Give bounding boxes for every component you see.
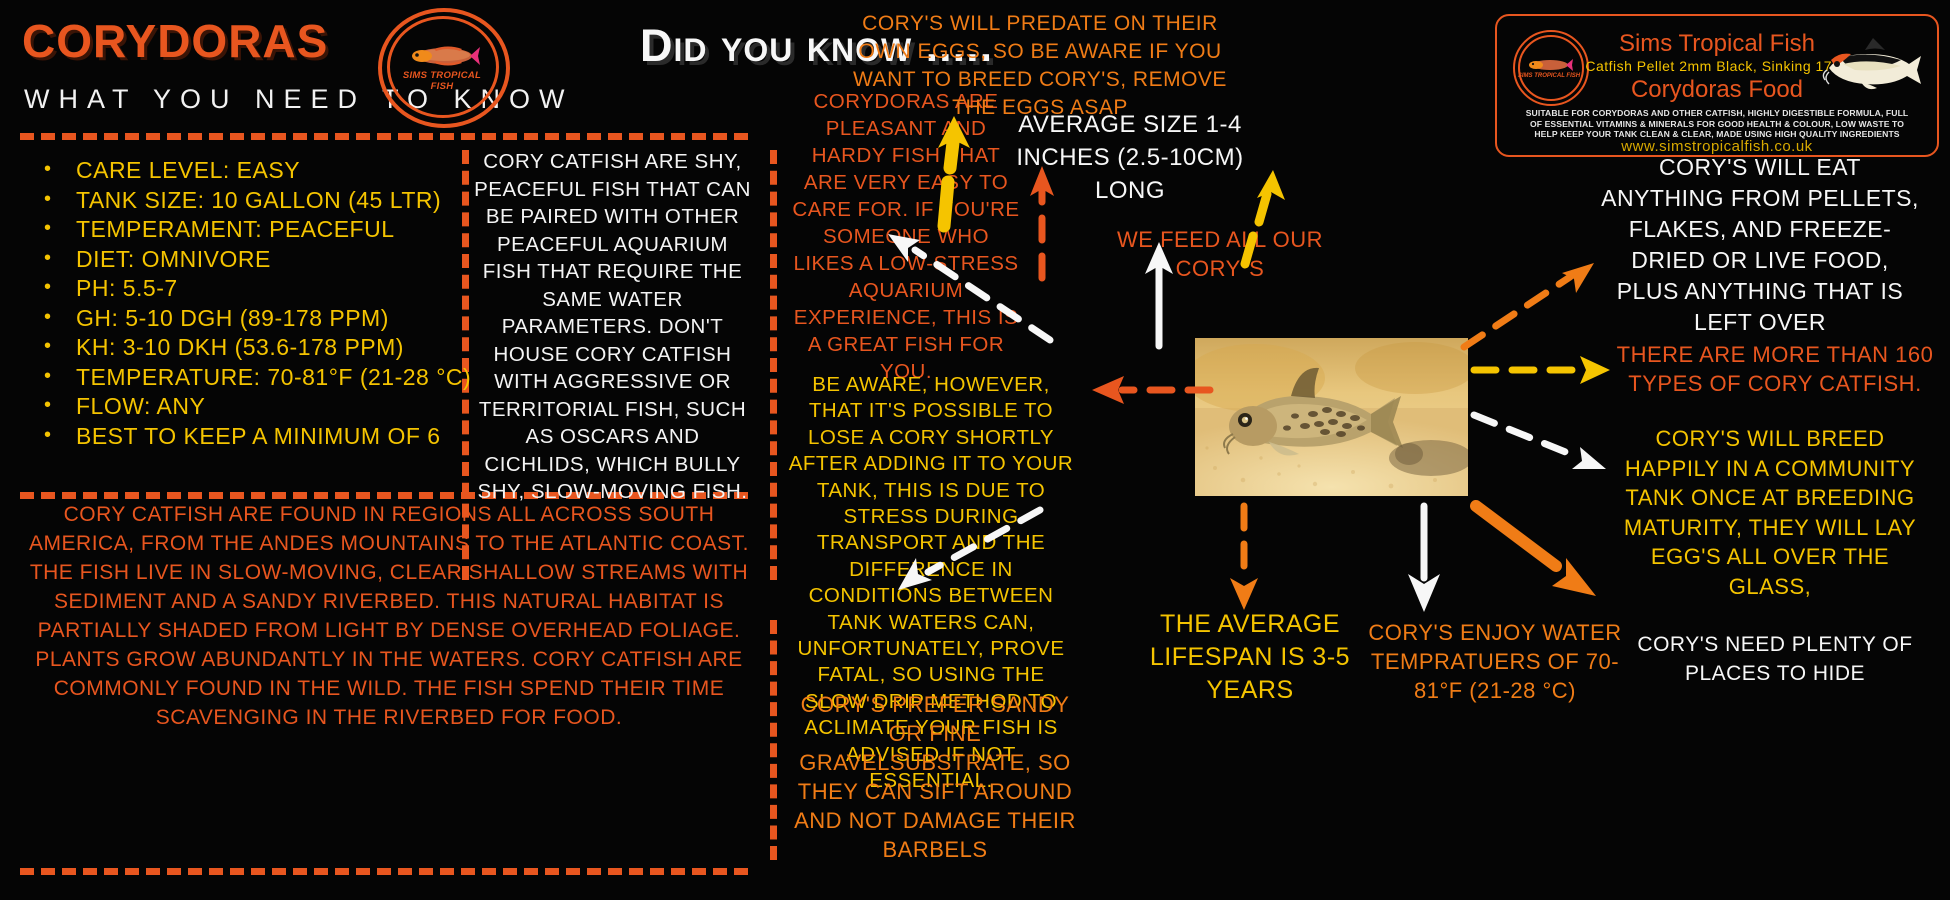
- arrow-white-down-temp: [1400, 500, 1446, 630]
- arrow-yellow-up-to-label: [1225, 140, 1295, 270]
- shy-peaceful-paragraph: CORY CATFISH ARE SHY, PEACEFUL FISH THAT…: [470, 148, 755, 506]
- places-to-hide-paragraph: CORY'S NEED PLENTY OF PLACES TO HIDE: [1620, 630, 1930, 688]
- divider-vertical-center-lower: [770, 620, 777, 860]
- divider-top: [20, 133, 748, 140]
- product-label-card: SIMS TROPICAL FISH Sims Tropical Fish Ca…: [1495, 14, 1939, 157]
- product-logo-wordmark: SIMS TROPICAL FISH: [1517, 73, 1581, 79]
- list-item: PH: 5.5-7: [30, 274, 450, 304]
- breed-happily-paragraph: CORY'S WILL BREED HAPPILY IN A COMMUNITY…: [1610, 424, 1930, 601]
- list-item: DIET: OMNIVORE: [30, 245, 450, 275]
- infographic-canvas: CORYDORAS WHAT YOU NEED TO KNOW SIMS TRO…: [0, 0, 1950, 900]
- arrow-orange-left: [1086, 360, 1216, 420]
- arrow-yellow-up-left: [918, 108, 988, 228]
- arrow-white-downleft: [870, 500, 1050, 610]
- divider-vertical-center: [770, 150, 777, 580]
- arrow-orange-downright-hide: [1470, 500, 1640, 630]
- we-feed-paragraph: WE FEED ALL OUR CORY"S: [1080, 225, 1360, 283]
- divider-bottom: [20, 868, 748, 875]
- types-count-paragraph: THERE ARE MORE THAN 160 TYPES OF CORY CA…: [1610, 340, 1940, 398]
- brand-logo: SIMS TROPICAL FISH: [378, 8, 510, 128]
- product-description: SUITABLE FOR CORYDORAS AND OTHER CATFISH…: [1525, 108, 1909, 140]
- list-item: TEMPERAMENT: PEACEFUL: [30, 215, 450, 245]
- corydoras-photo: [1195, 338, 1468, 496]
- list-item: CARE LEVEL: EASY: [30, 156, 450, 186]
- eat-anything-paragraph: CORY'S WILL EAT ANYTHING FROM PELLETS, F…: [1600, 152, 1920, 338]
- corydoras-photo-svg: [1195, 338, 1468, 496]
- product-website-url: www.simstropicalfish.co.uk: [1587, 138, 1847, 155]
- product-variant: Catfish Pellet 2mm Black, Sinking 175g: [1577, 58, 1857, 74]
- arrow-white-downright: [1470, 405, 1620, 495]
- product-brand-name: Sims Tropical Fish: [1587, 30, 1847, 58]
- list-item: KH: 3-10 DKH (53.6-178 PPM): [30, 333, 450, 363]
- arrow-white-upleft: [860, 230, 1060, 350]
- arrow-white-up-center: [1135, 230, 1181, 350]
- arowana-fish-icon: [1525, 56, 1573, 74]
- water-temperature-paragraph: CORY'S ENJOY WATER TEMPRATUERS OF 70-81°…: [1360, 618, 1630, 705]
- page-title: CORYDORAS: [22, 14, 328, 68]
- care-facts-list: CARE LEVEL: EASY TANK SIZE: 10 GALLON (4…: [30, 156, 450, 451]
- logo-wordmark: SIMS TROPICAL FISH: [394, 70, 490, 92]
- sandy-substrate-paragraph: CORY'S PREFER SANDY OR FINE GRAVELSUBSTR…: [790, 690, 1080, 864]
- arrow-orange-down-lifespan: [1220, 500, 1266, 630]
- list-item: GH: 5-10 DGH (89-178 PPM): [30, 304, 450, 334]
- list-item: FLOW: ANY: [30, 392, 450, 422]
- list-item: BEST TO KEEP A MINIMUM OF 6: [30, 422, 450, 452]
- habitat-paragraph: CORY CATFISH ARE FOUND IN REGIONS ALL AC…: [14, 500, 764, 732]
- predate-eggs-paragraph: CORY'S WILL PREDATE ON THEIR OWN EGGS, S…: [850, 10, 1230, 122]
- corydoras-fish-icon: [1821, 36, 1925, 98]
- arrow-yellow-right: [1470, 340, 1620, 400]
- arowana-fish-icon: [404, 42, 480, 70]
- list-item: TANK SIZE: 10 GALLON (45 LTR): [30, 186, 450, 216]
- list-item: TEMPERATURE: 70-81°F (21-28 °C): [30, 363, 450, 393]
- product-name: Corydoras Food: [1587, 76, 1847, 104]
